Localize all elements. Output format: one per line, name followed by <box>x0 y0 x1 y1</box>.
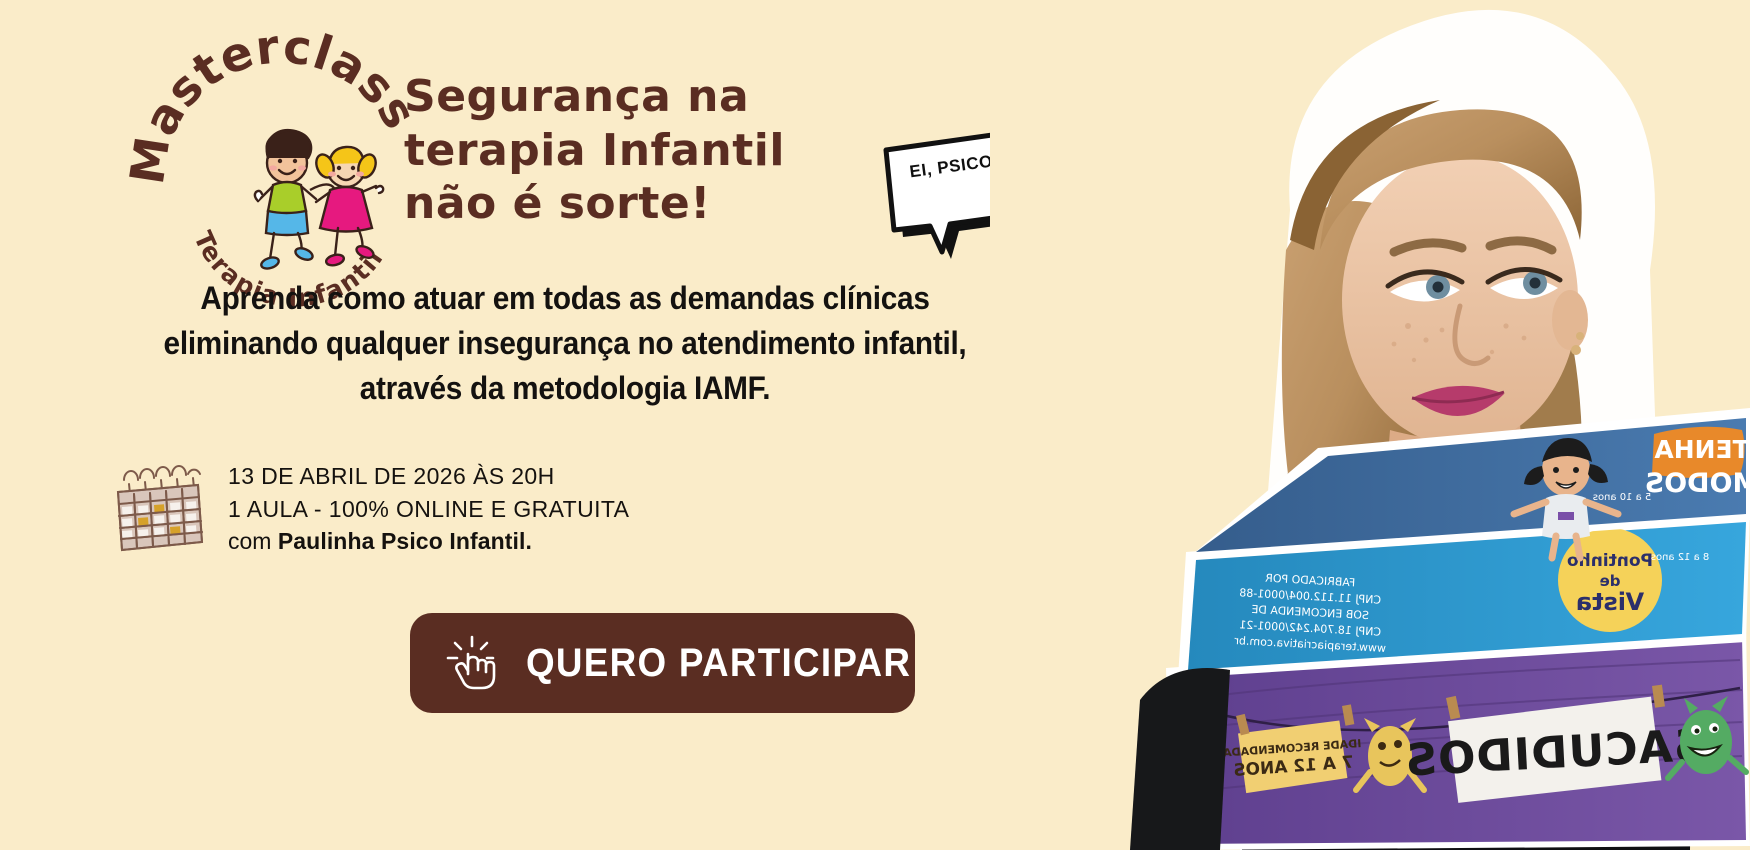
headline-line-2: terapia Infantil <box>404 124 824 178</box>
calendar-icon <box>110 458 210 553</box>
subheadline-line-2: eliminando qualquer insegurança no atend… <box>95 321 1034 366</box>
subheadline-line-1: Aprenda como atuar em todas as demandas … <box>95 276 1034 321</box>
earring <box>1571 345 1581 355</box>
event-host-line: com Paulinha Psico Infantil. <box>228 525 629 558</box>
presenter-photo: IDADE RECOMENDADA 7 A 12 ANOS <box>990 0 1750 850</box>
event-format: 1 AULA - 100% ONLINE E GRATUITA <box>228 493 629 526</box>
event-text-lines: 13 DE ABRIL DE 2026 ÀS 20H 1 AULA - 100%… <box>228 452 629 558</box>
event-host-name: Paulinha Psico Infantil. <box>278 528 532 554</box>
headline: Segurança na terapia Infantil não é sort… <box>404 70 824 231</box>
event-date-time: 13 DE ABRIL DE 2026 ÀS 20H <box>228 460 629 493</box>
event-details: 13 DE ABRIL DE 2026 ÀS 20H 1 AULA - 100%… <box>110 452 629 558</box>
svg-text:MODOS: MODOS <box>1645 468 1750 499</box>
ear <box>1552 290 1588 350</box>
logo-boy-figure <box>255 129 316 271</box>
click-hand-icon <box>446 634 498 692</box>
quero-participar-button[interactable]: QUERO PARTICIPAR <box>410 613 915 713</box>
promo-banner: Masterclass Terapia Infantil <box>0 0 1750 850</box>
svg-text:8 a 12 anos: 8 a 12 anos <box>1651 552 1710 563</box>
svg-text:TENHA: TENHA <box>1654 435 1750 464</box>
masterclass-logo: Masterclass Terapia Infantil <box>150 40 410 270</box>
headline-line-3: não é sorte! <box>404 177 824 231</box>
event-host-prefix: com <box>228 528 278 554</box>
cta-label: QUERO PARTICIPAR <box>526 641 911 686</box>
svg-text:5 a 10 anos: 5 a 10 anos <box>1593 492 1652 503</box>
headline-line-1: Segurança na <box>404 70 824 124</box>
subheadline-line-3: através da metodologia IAMF. <box>95 366 1034 411</box>
svg-text:Vista: Vista <box>1576 588 1644 616</box>
subheadline: Aprenda como atuar em todas as demandas … <box>95 276 1034 410</box>
arm <box>1130 668 1230 850</box>
